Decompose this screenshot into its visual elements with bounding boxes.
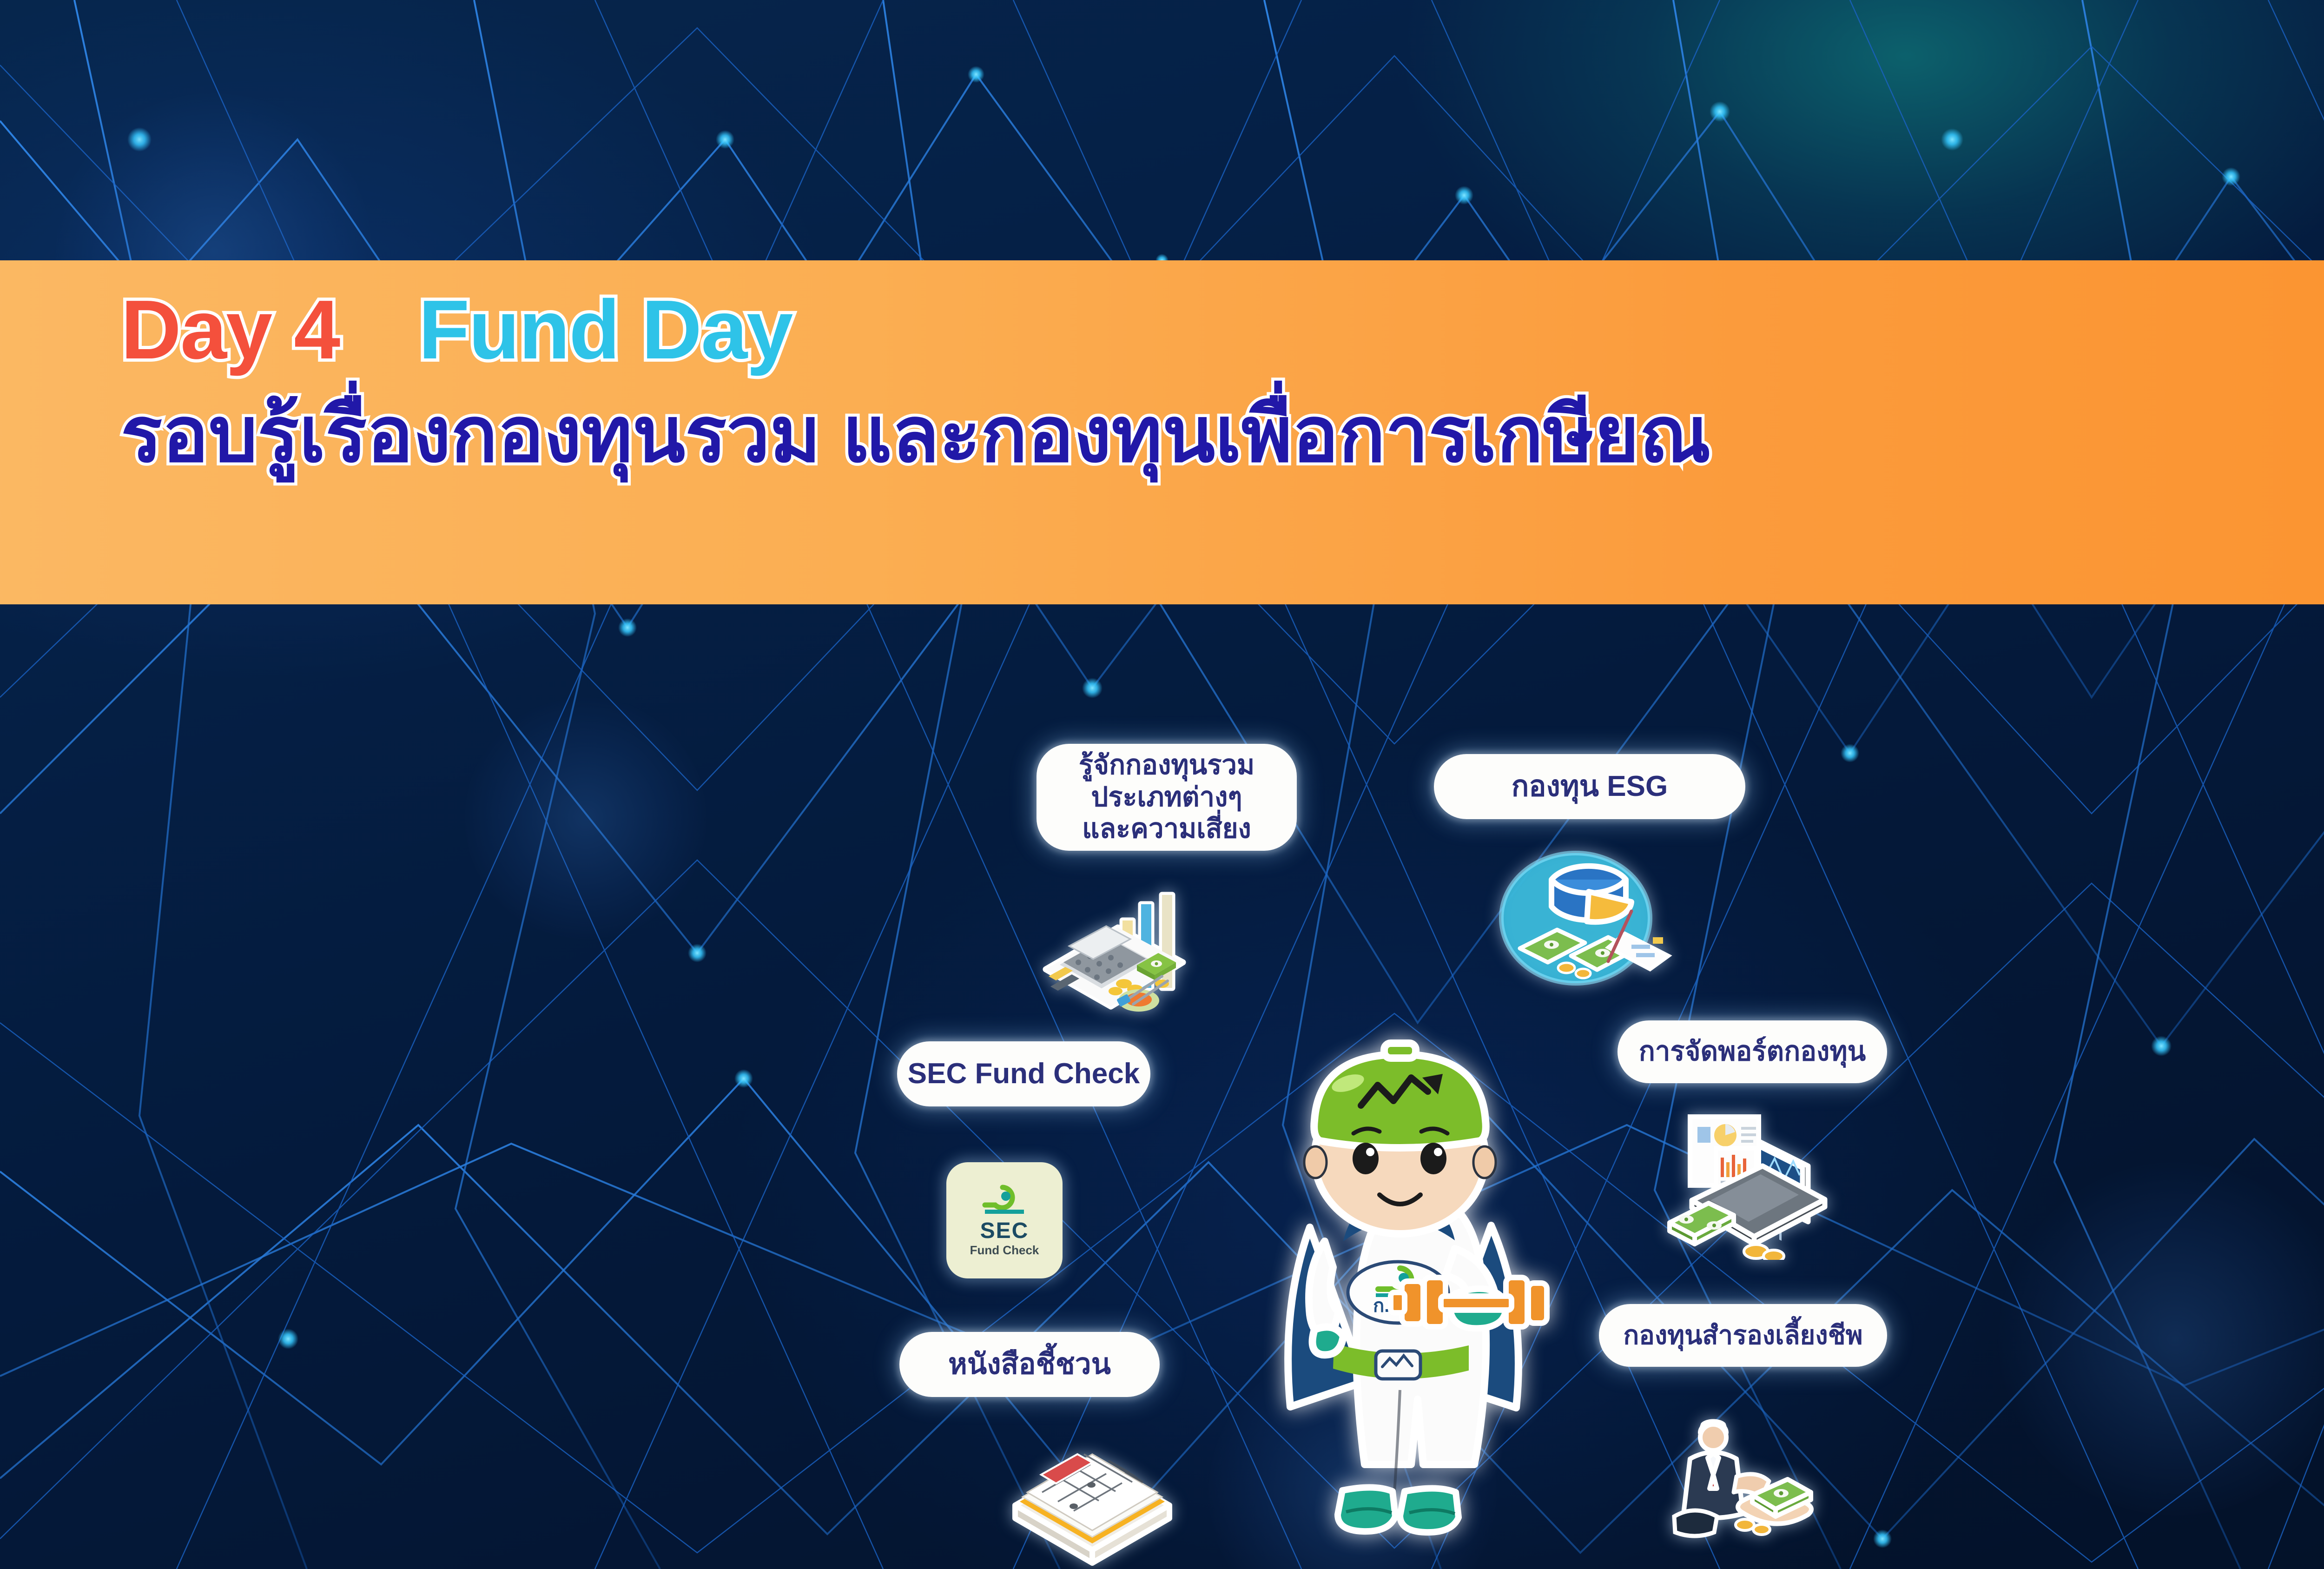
topic-bubble-provident-fund[interactable]: กองทุนสำรองเลี้ยงชีพ bbox=[1599, 1304, 1887, 1367]
app-icon-sec-label: SEC bbox=[980, 1220, 1029, 1242]
topic-label: รู้จักกองทุนรวม ประเภทต่างๆ และความเสี่ย… bbox=[1079, 749, 1254, 845]
pie-chart-money-icon bbox=[1492, 837, 1678, 986]
documents-stack-icon bbox=[999, 1427, 1185, 1569]
laptop-trading-icon bbox=[1645, 1106, 1831, 1260]
topic-bubble-prospectus[interactable]: หนังสือชี้ชวน bbox=[899, 1332, 1160, 1397]
topic-bubble-esg-fund[interactable]: กองทุน ESG bbox=[1434, 754, 1745, 819]
poster-canvas: building CONFIDENCE in your INVESTMENT bbox=[0, 0, 2324, 1569]
topic-label: การจัดพอร์ตกองทุน bbox=[1639, 1036, 1866, 1067]
banner-subtitle: รอบรู้เรื่องกองทุนรวม และกองทุนเพื่อการเ… bbox=[121, 393, 2324, 477]
topic-label: SEC Fund Check bbox=[908, 1057, 1140, 1091]
topic-label: หนังสือชี้ชวน bbox=[948, 1347, 1111, 1381]
topic-bubble-fund-portfolio[interactable]: การจัดพอร์ตกองทุน bbox=[1618, 1020, 1887, 1083]
topic-label: กองทุน ESG bbox=[1512, 769, 1668, 803]
topic-label: กองทุนสำรองเลี้ยงชีพ bbox=[1623, 1320, 1862, 1351]
day-label: Day 4 bbox=[121, 288, 339, 372]
sec-emblem-icon bbox=[980, 1185, 1029, 1218]
sec-superhero-mascot: ก.ล.ต. bbox=[1236, 1023, 1562, 1548]
topic-bubble-sec-fund-check[interactable]: SEC Fund Check bbox=[897, 1041, 1150, 1106]
calculator-chart-icon bbox=[1023, 883, 1208, 1027]
topic-bubble-mutual-fund-types[interactable]: รู้จักกองทุนรวม ประเภทต่างๆ และความเสี่ย… bbox=[1037, 744, 1297, 851]
sec-fund-check-app-icon[interactable]: SEC Fund Check bbox=[946, 1162, 1063, 1278]
app-icon-sub-label: Fund Check bbox=[970, 1244, 1039, 1256]
theme-label: Fund Day bbox=[418, 288, 792, 372]
handshake-money-icon bbox=[1645, 1390, 1822, 1543]
title-banner: Day 4 Fund Day รอบรู้เรื่องกองทุนรวม และ… bbox=[0, 260, 2324, 604]
